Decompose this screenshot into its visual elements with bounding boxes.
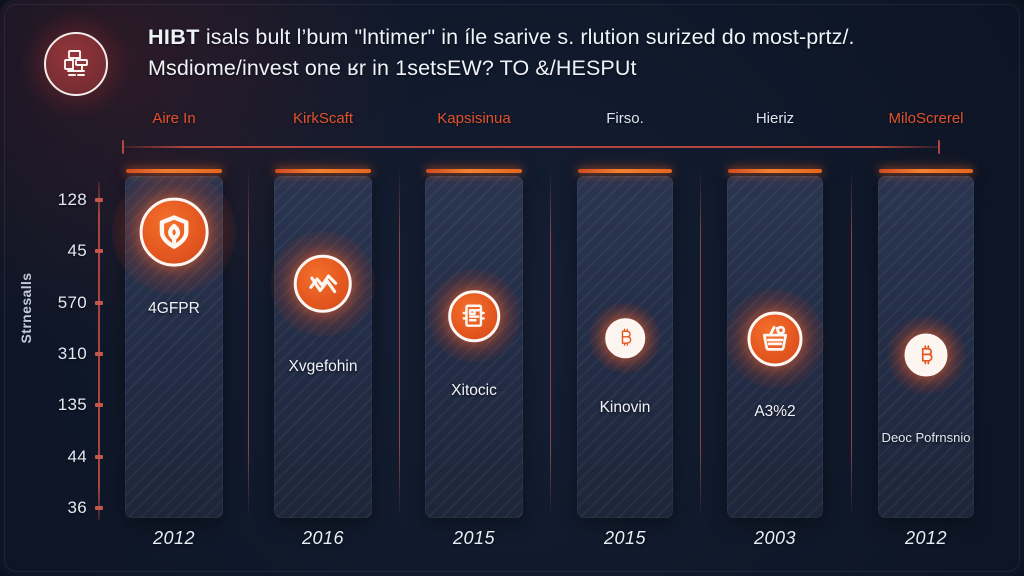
bitcoin-symbol-icon[interactable] — [905, 334, 948, 377]
rule-end-tick-2 — [938, 140, 940, 154]
x-axis-label-1: 2012 — [153, 528, 195, 549]
bar-value-label-5: A3%2 — [754, 403, 795, 421]
x-axis-label-2: 2016 — [302, 528, 344, 549]
bar-icon-node-1 — [134, 192, 214, 272]
x-axis-label-6: 2012 — [905, 528, 947, 549]
x-axis-label-5: 2003 — [754, 528, 796, 549]
bar-cap-6 — [879, 169, 973, 173]
bar-separator-5 — [851, 168, 852, 518]
bar-cap-3 — [426, 169, 522, 173]
bar-icon-node-6 — [901, 330, 951, 380]
bar-chart-plot: 4GFPR2012Xvgefohin2016Xitocic2015Kinovin… — [0, 0, 1024, 576]
bar-cap-5 — [728, 169, 822, 173]
bar-icon-node-4 — [602, 315, 648, 361]
x-axis-label-3: 2015 — [453, 528, 495, 549]
bar-icon-node-5 — [743, 307, 807, 371]
bar-cap-4 — [578, 169, 672, 173]
bar-separator-4 — [700, 168, 701, 518]
bitcoin-b-icon[interactable] — [605, 318, 645, 358]
bar-icon-node-3 — [444, 286, 504, 346]
infographic-root: HIBT isals bult l’bum "lntimer" in íle s… — [0, 0, 1024, 576]
x-axis-label-4: 2015 — [604, 528, 646, 549]
shield-badge-icon[interactable] — [140, 198, 209, 267]
bar-value-label-6: Deoc Pofrnsnio — [882, 430, 971, 445]
bar-icon-node-2 — [289, 250, 357, 318]
rule-end-tick-1 — [122, 140, 124, 154]
document-chip-icon[interactable] — [448, 290, 500, 342]
bar-value-label-2: Xvgefohin — [289, 358, 358, 376]
basket-cart-icon[interactable] — [747, 311, 802, 366]
bar-value-label-4: Kinovin — [600, 399, 651, 417]
bar-separator-2 — [399, 168, 400, 518]
bar-value-label-1: 4GFPR — [148, 300, 200, 318]
bar-cap-2 — [275, 169, 371, 173]
bar-separator-3 — [550, 168, 551, 518]
bar-separator-1 — [248, 168, 249, 518]
bar-2[interactable] — [274, 176, 372, 518]
bar-value-label-3: Xitocic — [451, 382, 497, 400]
